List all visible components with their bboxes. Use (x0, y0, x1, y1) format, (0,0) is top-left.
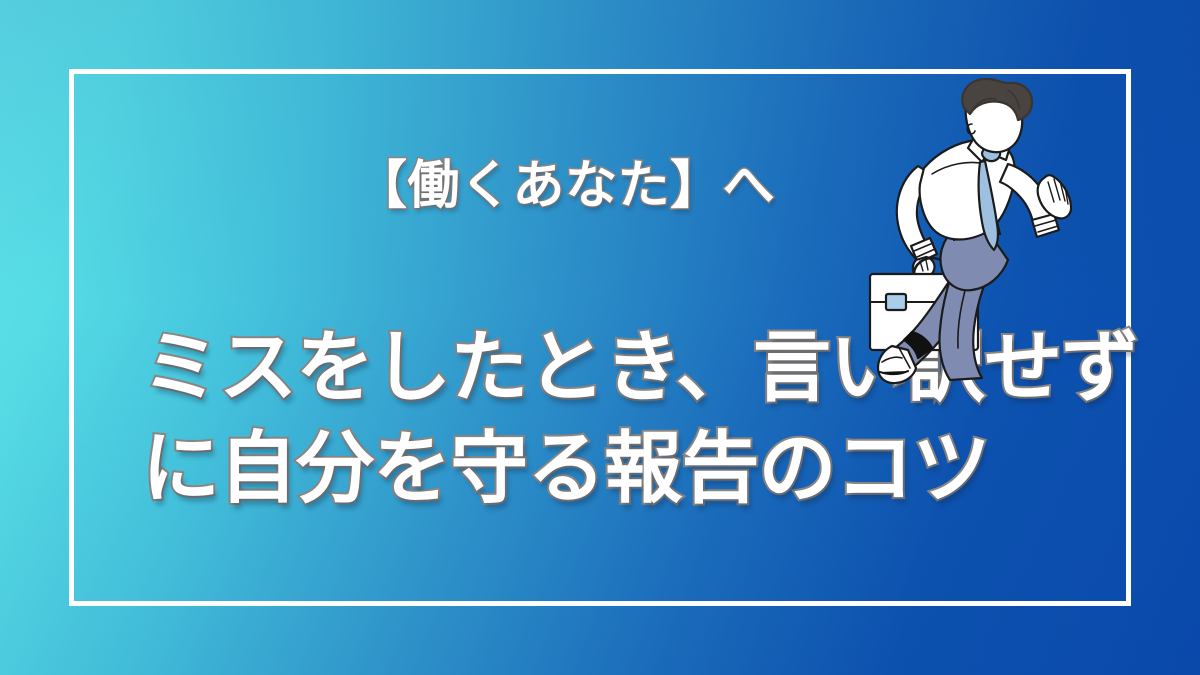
eyebrow-label: 【働くあなた】へ (355, 143, 775, 218)
page-title-line-2: に自分を守る報告のコツ (142, 419, 1072, 520)
running-businessman-illustration (858, 78, 1088, 388)
running-businessman-svg (858, 78, 1088, 388)
thumbnail-canvas: 【働くあなた】へ ミスをしたとき、言い訳せず に自分を守る報告のコツ (0, 0, 1200, 675)
